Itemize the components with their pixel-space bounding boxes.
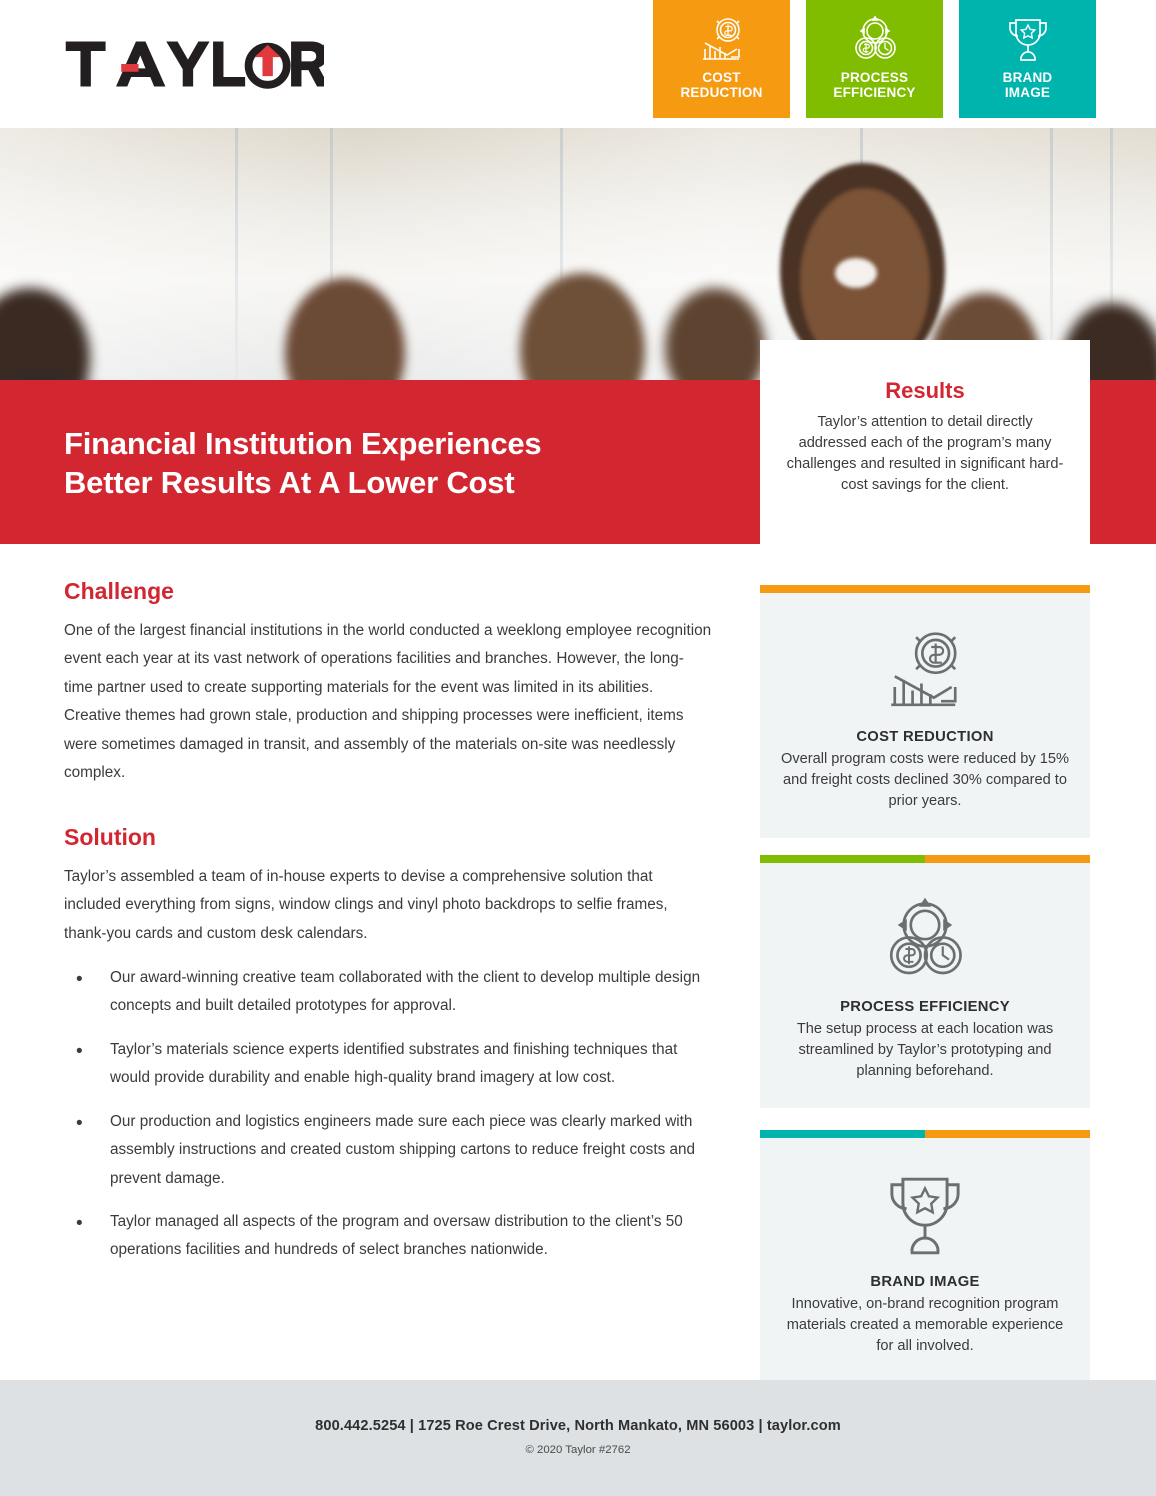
page-header: ™ COST REDUCTION <box>0 0 1156 128</box>
badge-brand-image[interactable]: BRAND IMAGE <box>959 0 1096 118</box>
challenge-heading: Challenge <box>64 578 712 605</box>
results-title: Results <box>782 378 1068 404</box>
result-card-brand-image: BRAND IMAGE Innovative, on-brand recogni… <box>760 1130 1090 1383</box>
process-efficiency-icon <box>780 889 1070 993</box>
card-body: Innovative, on-brand recognition program… <box>780 1294 1070 1357</box>
card-title: COST REDUCTION <box>780 729 1070 745</box>
results-body: Taylor’s attention to detail directly ad… <box>782 412 1068 497</box>
badge-label: PROCESS EFFICIENCY <box>833 70 915 100</box>
result-card-process-efficiency: PROCESS EFFICIENCY The setup process at … <box>760 855 1090 1108</box>
solution-bullet-list: Our award-winning creative team collabor… <box>64 964 712 1265</box>
page-footer: 800.442.5254 | 1725 Roe Crest Drive, Nor… <box>0 1380 1156 1496</box>
process-efficiency-icon <box>848 14 902 66</box>
list-item: Our production and logistics engineers m… <box>64 1108 712 1193</box>
list-item: Taylor’s materials science experts ident… <box>64 1036 712 1093</box>
cost-reduction-icon <box>695 14 749 66</box>
challenge-section: Challenge One of the largest financial i… <box>64 578 712 788</box>
footer-contact-line[interactable]: 800.442.5254 | 1725 Roe Crest Drive, Nor… <box>0 1380 1156 1434</box>
badge-label: COST REDUCTION <box>680 70 762 100</box>
brand-image-icon <box>1003 14 1053 66</box>
taylor-logo[interactable]: ™ <box>64 38 324 90</box>
cost-reduction-icon <box>780 619 1070 723</box>
solution-body: Taylor’s assembled a team of in-house ex… <box>64 863 712 948</box>
solution-heading: Solution <box>64 824 712 851</box>
card-top-bar <box>760 585 1090 593</box>
brand-image-icon <box>780 1164 1070 1268</box>
svg-text:™: ™ <box>317 43 324 52</box>
card-title: BRAND IMAGE <box>780 1274 1070 1290</box>
solution-section: Solution Taylor’s assembled a team of in… <box>64 824 712 1265</box>
badge-cost-reduction[interactable]: COST REDUCTION <box>653 0 790 118</box>
footer-copyright: © 2020 Taylor #2762 <box>0 1434 1156 1456</box>
card-top-bar <box>760 1130 1090 1138</box>
badge-label: BRAND IMAGE <box>1003 70 1053 100</box>
header-badges: COST REDUCTION PROCESS <box>653 0 1156 118</box>
card-title: PROCESS EFFICIENCY <box>780 999 1070 1015</box>
result-card-cost-reduction: COST REDUCTION Overall program costs wer… <box>760 585 1090 838</box>
card-body: Overall program costs were reduced by 15… <box>780 749 1070 812</box>
results-card: Results Taylor’s attention to detail dir… <box>760 340 1090 555</box>
list-item: Our award-winning creative team collabor… <box>64 964 712 1021</box>
card-body: The setup process at each location was s… <box>780 1019 1070 1082</box>
main-content: Challenge One of the largest financial i… <box>64 578 712 1280</box>
list-item: Taylor managed all aspects of the progra… <box>64 1208 712 1265</box>
card-top-bar <box>760 855 1090 863</box>
challenge-body: One of the largest financial institution… <box>64 617 712 788</box>
page-title: Financial Institution Experiences Better… <box>64 424 724 503</box>
badge-process-efficiency[interactable]: PROCESS EFFICIENCY <box>806 0 943 118</box>
